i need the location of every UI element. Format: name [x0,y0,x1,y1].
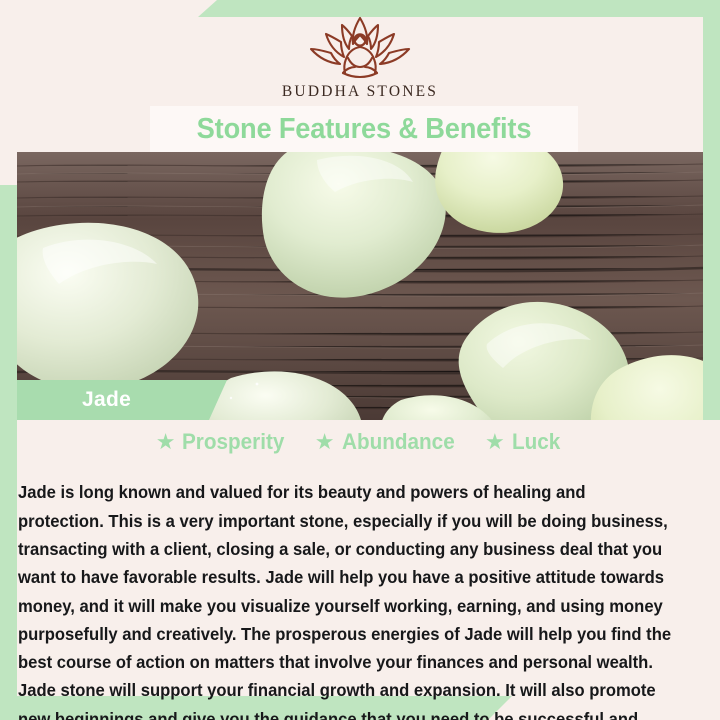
lotus-meditation-icon [297,14,423,80]
brand-name: BUDDHA STONES [0,83,720,101]
brand-logo-block: BUDDHA STONES [0,14,720,101]
page-title: Stone Features & Benefits [197,113,532,146]
decor-left-green-strip [0,185,17,720]
benefit-item: ★ Abundance [315,429,464,455]
stone-name: Jade [82,388,131,412]
jade-stones-photo [17,152,703,420]
star-icon: ★ [156,431,176,453]
benefits-row: ★ Prosperity ★ Abundance ★ Luck [17,429,703,455]
jade-stones-illustration [17,152,703,420]
benefit-item: ★ Luck [485,429,564,455]
title-band: Stone Features & Benefits [150,106,578,152]
stone-description: Jade is long known and valued for its be… [18,478,673,720]
star-icon: ★ [485,431,505,453]
benefit-item: ★ Prosperity [156,429,294,455]
benefit-label: Luck [512,429,560,455]
benefit-label: Abundance [342,429,455,455]
stone-info-card: BUDDHA STONES Stone Features & Benefits [0,0,720,720]
star-icon: ★ [315,431,335,453]
stone-name-banner: Jade [17,380,227,420]
benefit-label: Prosperity [182,429,284,455]
